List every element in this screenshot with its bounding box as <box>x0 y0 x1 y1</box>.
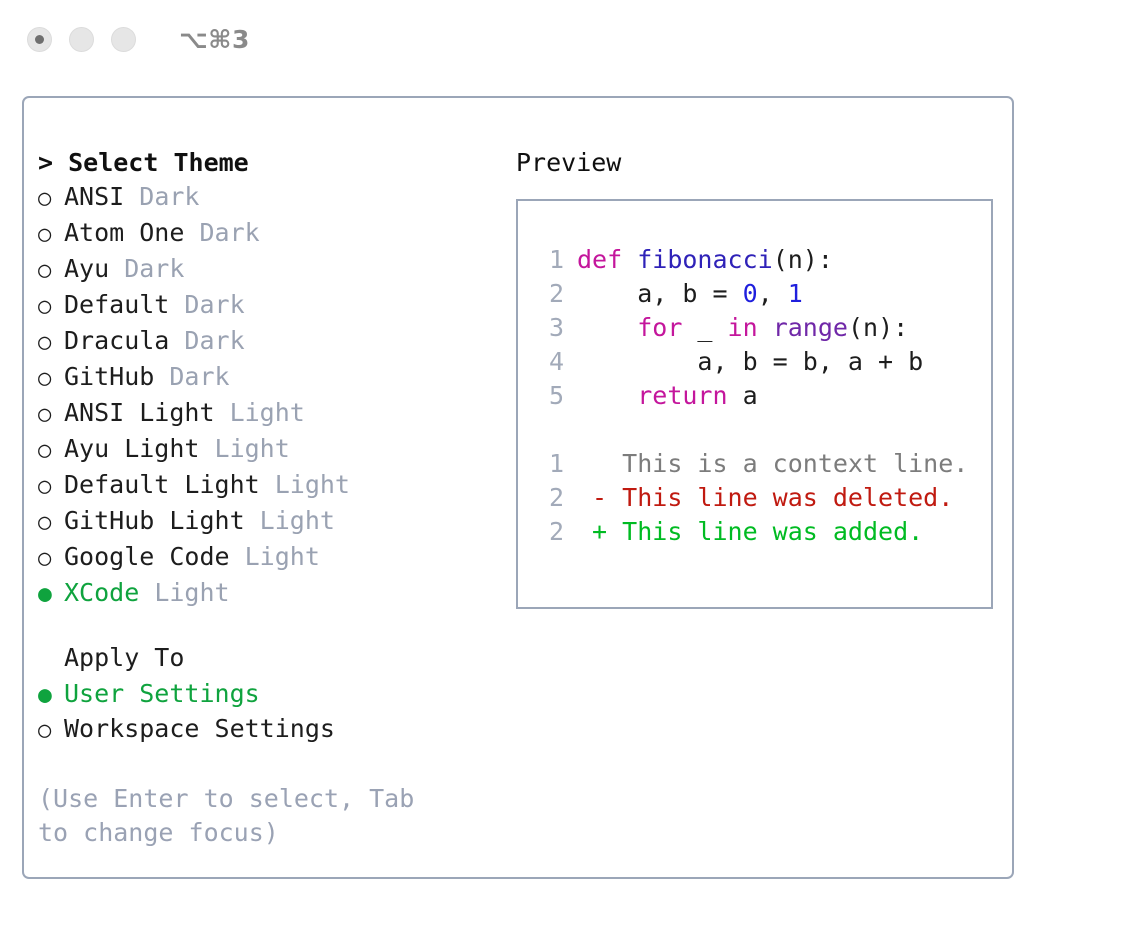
code-token-txt: , <box>758 279 788 308</box>
code-line: 5 return a <box>532 379 991 413</box>
theme-option-tag: Light <box>139 576 229 610</box>
radio-unselected-icon: ○ <box>38 470 64 504</box>
code-token-call: range <box>773 313 848 342</box>
line-number: 2 <box>532 515 564 549</box>
diff-line-content: + This line was added. <box>577 515 923 549</box>
line-number: 1 <box>532 243 564 277</box>
preview-box: 1def fibonacci(n):2 a, b = 0, 13 for _ i… <box>516 199 993 609</box>
apply-to-option-label: User Settings <box>64 677 260 711</box>
apply-to-option-label: Workspace Settings <box>64 712 335 746</box>
theme-option-tag: Light <box>245 504 335 538</box>
window-controls <box>27 27 136 52</box>
theme-option-tag: Light <box>199 432 289 466</box>
theme-option-label: XCode <box>64 576 139 610</box>
code-token-txt: a, b = <box>577 279 743 308</box>
theme-option-tag: Dark <box>109 252 184 286</box>
theme-option-default-light[interactable]: ○Default Light Light <box>38 468 506 504</box>
radio-unselected-icon: ○ <box>38 218 64 252</box>
code-line-content: def fibonacci(n): <box>577 243 833 277</box>
code-token-txt <box>577 313 637 342</box>
theme-option-tag: Light <box>215 396 305 430</box>
code-line: 1def fibonacci(n): <box>532 243 991 277</box>
diff-sign: - <box>577 483 607 512</box>
select-theme-heading: > Select Theme <box>38 146 506 180</box>
theme-option-tag: Dark <box>154 360 229 394</box>
theme-option-label: Default Light <box>64 468 260 502</box>
diff-sign: + <box>577 517 607 546</box>
diff-line-del: 2 - This line was deleted. <box>532 481 991 515</box>
radio-selected-icon: ● <box>38 577 64 611</box>
preview-pane: Preview 1def fibonacci(n):2 a, b = 0, 13… <box>506 146 1012 850</box>
theme-option-google-code[interactable]: ○Google Code Light <box>38 540 506 576</box>
apply-to-heading: Apply To <box>38 641 506 677</box>
diff-text: This is a context line. <box>607 449 968 478</box>
theme-option-github-light[interactable]: ○GitHub Light Light <box>38 504 506 540</box>
diff-sign <box>577 449 607 478</box>
theme-option-dracula[interactable]: ○Dracula Dark <box>38 324 506 360</box>
radio-unselected-icon: ○ <box>38 362 64 396</box>
diff-line-content: - This line was deleted. <box>577 481 953 515</box>
theme-option-xcode[interactable]: ●XCode Light <box>38 576 506 611</box>
theme-option-list: ○ANSI Dark○Atom One Dark○Ayu Dark○Defaul… <box>38 180 506 611</box>
main-panel: > Select Theme ○ANSI Dark○Atom One Dark○… <box>22 96 1014 879</box>
apply-to-marker-slot <box>38 643 64 677</box>
list-spacer <box>38 611 506 641</box>
diff-text: This line was added. <box>607 517 923 546</box>
apply-to-option-list: ●User Settings○Workspace Settings <box>38 677 506 748</box>
radio-unselected-icon: ○ <box>38 182 64 216</box>
line-number: 1 <box>532 447 564 481</box>
theme-option-github[interactable]: ○GitHub Dark <box>38 360 506 396</box>
theme-option-ayu-light[interactable]: ○Ayu Light Light <box>38 432 506 468</box>
window-dot-second[interactable] <box>69 27 94 52</box>
code-token-num: 1 <box>788 279 803 308</box>
radio-unselected-icon: ○ <box>38 542 64 576</box>
code-token-txt: (n): <box>848 313 908 342</box>
theme-option-label: Dracula <box>64 324 169 358</box>
code-token-kw: in <box>728 313 758 342</box>
theme-option-tag: Dark <box>169 288 244 322</box>
code-token-kw: def <box>577 245 637 274</box>
theme-option-label: GitHub Light <box>64 504 245 538</box>
code-line-content: a, b = b, a + b <box>577 345 923 379</box>
line-number: 5 <box>532 379 564 413</box>
diff-line-ctx: 1 This is a context line. <box>532 447 991 481</box>
code-token-fn: fibonacci <box>637 245 772 274</box>
line-number: 2 <box>532 277 564 311</box>
theme-option-ansi[interactable]: ○ANSI Dark <box>38 180 506 216</box>
code-token-txt: a, b = b, a + b <box>577 347 923 376</box>
radio-unselected-icon: ○ <box>38 398 64 432</box>
theme-option-label: Atom One <box>64 216 184 250</box>
window-dot-active[interactable] <box>27 27 52 52</box>
theme-list-pane: > Select Theme ○ANSI Dark○Atom One Dark○… <box>38 146 506 850</box>
code-token-txt: a <box>728 381 758 410</box>
theme-option-atom-one[interactable]: ○Atom One Dark <box>38 216 506 252</box>
radio-unselected-icon: ○ <box>38 506 64 540</box>
radio-unselected-icon: ○ <box>38 254 64 288</box>
code-token-txt <box>577 381 637 410</box>
code-line-content: a, b = 0, 1 <box>577 277 803 311</box>
diff-line-add: 2 + This line was added. <box>532 515 991 549</box>
line-number: 4 <box>532 345 564 379</box>
code-token-kw: for <box>637 313 682 342</box>
radio-unselected-icon: ○ <box>38 290 64 324</box>
theme-option-label: ANSI <box>64 180 124 214</box>
code-line: 3 for _ in range(n): <box>532 311 991 345</box>
radio-unselected-icon: ○ <box>38 326 64 360</box>
code-token-kw: return <box>637 381 727 410</box>
radio-unselected-icon: ○ <box>38 714 64 748</box>
theme-option-tag: Dark <box>124 180 199 214</box>
code-diff-separator <box>532 413 991 447</box>
preview-heading: Preview <box>516 146 1012 180</box>
theme-option-tag: Dark <box>184 216 259 250</box>
code-line-content: for _ in range(n): <box>577 311 908 345</box>
theme-option-tag: Light <box>230 540 320 574</box>
radio-unselected-icon: ○ <box>38 434 64 468</box>
code-token-txt: (n): <box>773 245 833 274</box>
line-number: 3 <box>532 311 564 345</box>
active-dot-icon <box>35 35 44 44</box>
apply-to-label: Apply To <box>64 641 184 675</box>
theme-selector-window: ⌥⌘3 > Select Theme ○ANSI Dark○Atom One D… <box>0 0 1140 934</box>
theme-option-label: Google Code <box>64 540 230 574</box>
theme-option-label: ANSI Light <box>64 396 215 430</box>
diff-preview: 1 This is a context line.2 - This line w… <box>532 447 991 549</box>
theme-option-ansi-light[interactable]: ○ANSI Light Light <box>38 396 506 432</box>
diff-line-content: This is a context line. <box>577 447 968 481</box>
code-line-content: return a <box>577 379 758 413</box>
theme-option-label: Ayu Light <box>64 432 199 466</box>
apply-to-option-workspace-settings[interactable]: ○Workspace Settings <box>38 712 506 748</box>
theme-option-tag: Dark <box>169 324 244 358</box>
theme-option-label: Ayu <box>64 252 109 286</box>
theme-option-ayu[interactable]: ○Ayu Dark <box>38 252 506 288</box>
radio-selected-icon: ● <box>38 678 64 712</box>
code-token-num: 0 <box>743 279 758 308</box>
title-bar: ⌥⌘3 <box>0 0 1140 78</box>
diff-text: This line was deleted. <box>607 483 953 512</box>
theme-option-tag: Light <box>260 468 350 502</box>
keyboard-shortcut-label: ⌥⌘3 <box>179 25 250 54</box>
code-token-txt <box>758 313 773 342</box>
code-line: 2 a, b = 0, 1 <box>532 277 991 311</box>
theme-option-label: Default <box>64 288 169 322</box>
apply-to-option-user-settings[interactable]: ●User Settings <box>38 677 506 712</box>
code-token-txt: _ <box>682 313 727 342</box>
code-preview: 1def fibonacci(n):2 a, b = 0, 13 for _ i… <box>532 243 991 413</box>
hint-spacer <box>38 748 506 782</box>
line-number: 2 <box>532 481 564 515</box>
theme-option-default[interactable]: ○Default Dark <box>38 288 506 324</box>
theme-option-label: GitHub <box>64 360 154 394</box>
keyboard-hint-text: (Use Enter to select, Tab to change focu… <box>38 782 458 850</box>
window-dot-third[interactable] <box>111 27 136 52</box>
code-line: 4 a, b = b, a + b <box>532 345 991 379</box>
